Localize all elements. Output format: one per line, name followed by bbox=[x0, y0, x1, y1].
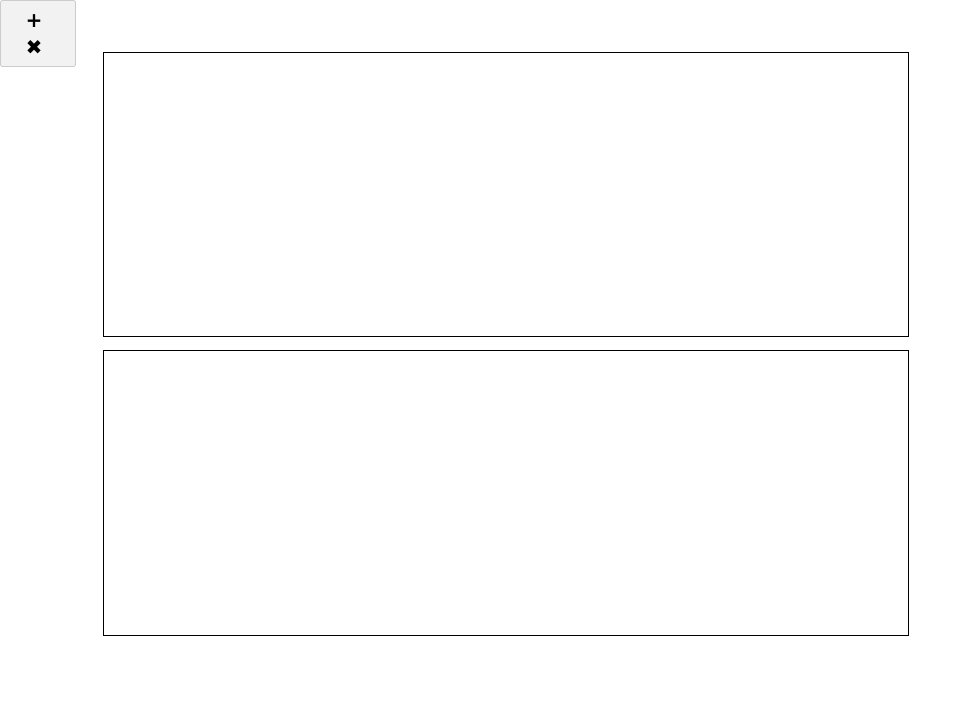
matched-plus-icon: + bbox=[11, 10, 57, 30]
bottom-panel-axes bbox=[103, 350, 909, 636]
bottom-legend: + ✖ bbox=[0, 0, 76, 67]
legend-item-matched-stars[interactable]: + bbox=[11, 6, 63, 33]
bottom-panel-plot bbox=[104, 351, 908, 635]
predicted-cross-icon: ✖ bbox=[11, 37, 57, 57]
legend-item-predicted-stars[interactable]: ✖ bbox=[11, 33, 63, 60]
top-panel-plot bbox=[104, 53, 908, 336]
top-panel-axes bbox=[103, 52, 909, 337]
figure-root: + ✖ bbox=[0, 0, 960, 720]
